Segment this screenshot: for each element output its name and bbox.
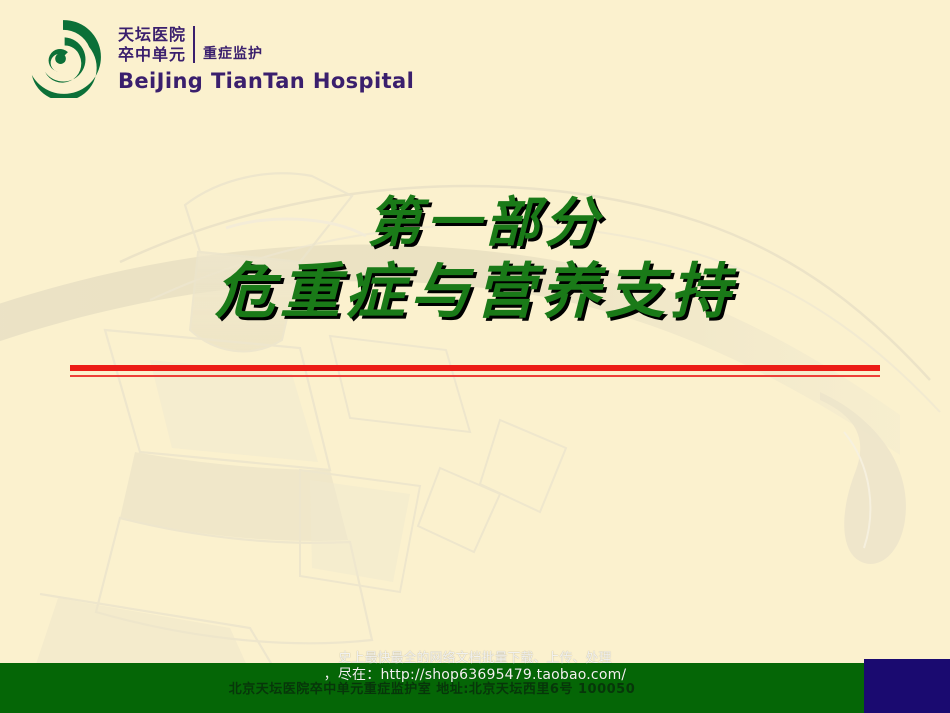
background-watermark-artwork bbox=[0, 0, 950, 713]
hospital-cn-line-1: 天坛医院 bbox=[118, 25, 186, 45]
hospital-cn-name: 天坛医院 卒中单元 bbox=[118, 25, 193, 64]
hospital-cn-line-2: 卒中单元 bbox=[118, 45, 186, 65]
hospital-name-text: 天坛医院 卒中单元 重症监护 BeiJing TianTan Hospital bbox=[118, 25, 414, 92]
watermark-line-2: ，尽在：http://shop63695479.taobao.com/ bbox=[0, 667, 950, 685]
tiantan-hospital-spiral-logo-icon bbox=[22, 16, 104, 98]
red-rule-thin bbox=[70, 375, 880, 377]
presentation-slide: 天坛医院 卒中单元 重症监护 BeiJing TianTan Hospital … bbox=[0, 0, 950, 713]
title-line-subject: 危重症与营养支持 bbox=[0, 262, 950, 322]
taobao-watermark: 史上最快最全的网络文档批量下载、上传、处理 ，尽在：http://shop636… bbox=[0, 651, 950, 685]
watermark-line-1: 史上最快最全的网络文档批量下载、上传、处理 bbox=[0, 651, 950, 667]
hospital-en-name: BeiJing TianTan Hospital bbox=[118, 69, 414, 93]
red-rule-thick bbox=[70, 365, 880, 371]
slide-title: 第一部分 危重症与营养支持 bbox=[0, 196, 950, 322]
hospital-logo-block: 天坛医院 卒中单元 重症监护 BeiJing TianTan Hospital bbox=[22, 16, 414, 98]
title-line-part-number: 第一部分 bbox=[0, 196, 950, 250]
department-label: 重症监护 bbox=[195, 43, 263, 65]
